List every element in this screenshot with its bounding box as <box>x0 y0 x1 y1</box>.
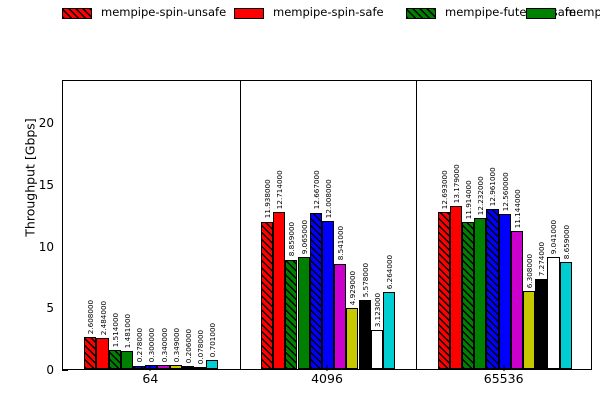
y-tick-label: 15 <box>39 179 54 191</box>
legend-label: mempipe-spin-unsafe <box>101 7 226 19</box>
group-separator <box>416 81 417 369</box>
bars-container: 2.6080002.4840001.5140001.4810000.278000… <box>63 81 591 369</box>
chart-legend: mempipe-spin-unsafemempipe-spin-safememp… <box>62 4 532 78</box>
bar: 2.608000 <box>84 337 96 369</box>
bar: 0.078000 <box>194 367 206 369</box>
bar: 11.938000 <box>261 222 273 369</box>
bar: 8.659000 <box>560 262 572 369</box>
bar: 8.859000 <box>285 260 297 369</box>
bar: 12.232000 <box>474 218 486 369</box>
bar: 0.340000 <box>157 365 169 369</box>
y-axis-ticks: 05101520 <box>0 80 62 370</box>
bar-value-label: 11.938000 <box>264 180 271 219</box>
legend-label: mempipe-futex-safe <box>565 7 600 19</box>
bar: 5.578000 <box>359 300 371 369</box>
legend-swatch-icon <box>406 8 436 19</box>
bar-value-label: 1.481000 <box>124 313 131 347</box>
bar: 1.514000 <box>109 350 121 369</box>
bar-value-label: 5.578000 <box>361 263 368 297</box>
bar-value-label: 0.701000 <box>209 323 216 357</box>
bar: 12.714000 <box>273 212 285 369</box>
bar-value-label: 0.300000 <box>148 328 155 362</box>
bar: 12.560000 <box>499 214 511 369</box>
legend-swatch-icon <box>234 8 264 19</box>
bar-value-label: 9.041000 <box>550 220 557 254</box>
legend-entry: mempipe-futex-safe <box>526 4 600 22</box>
bar: 11.144000 <box>511 231 523 369</box>
bar: 12.008000 <box>322 221 334 369</box>
bar-value-label: 12.560000 <box>501 172 508 211</box>
bar-value-label: 9.065000 <box>300 220 307 254</box>
bar-value-label: 6.264000 <box>386 254 393 288</box>
bar-value-label: 12.667000 <box>313 171 320 210</box>
bar-value-label: 4.929000 <box>349 271 356 305</box>
bar: 6.264000 <box>383 292 395 369</box>
bar-value-label: 11.914000 <box>465 180 472 219</box>
bar: 8.541000 <box>334 264 346 369</box>
legend-label: mempipe-spin-safe <box>273 7 384 19</box>
x-tick-mark <box>503 365 504 371</box>
bar: 11.914000 <box>462 222 474 369</box>
bar-value-label: 8.859000 <box>288 222 295 256</box>
bar: 12.667000 <box>310 213 322 369</box>
bar-value-label: 0.078000 <box>197 330 204 364</box>
y-tick-label: 5 <box>46 302 54 314</box>
legend-entry: mempipe-spin-safe <box>234 4 406 22</box>
x-tick-mark <box>327 365 328 371</box>
y-tick-label: 10 <box>39 241 54 253</box>
bar: 1.481000 <box>121 351 133 369</box>
bar: 7.274000 <box>535 279 547 369</box>
legend-entry: mempipe-spin-unsafe <box>62 4 234 22</box>
y-tick-label: 0 <box>46 364 54 376</box>
bar: 9.065000 <box>298 257 310 369</box>
bar-value-label: 0.349000 <box>173 327 180 361</box>
bar-value-label: 0.206000 <box>185 329 192 363</box>
bar-value-label: 8.541000 <box>337 226 344 260</box>
bar: 12.961000 <box>486 209 498 369</box>
x-tick-mark <box>150 365 151 371</box>
plot-area: 2.6080002.4840001.5140001.4810000.278000… <box>62 80 592 370</box>
bar: 12.693000 <box>438 212 450 369</box>
x-axis-ticks: 64409665536 <box>62 372 592 392</box>
bar-value-label: 12.961000 <box>489 167 496 206</box>
bar-value-label: 0.278000 <box>136 328 143 362</box>
legend-swatch-icon <box>62 8 92 19</box>
bar: 0.300000 <box>145 365 157 369</box>
bar-value-label: 12.008000 <box>325 179 332 218</box>
bar-value-label: 0.340000 <box>160 328 167 362</box>
bar-value-label: 13.179000 <box>453 165 460 204</box>
bar: 2.484000 <box>96 338 108 369</box>
bar-value-label: 12.232000 <box>477 176 484 215</box>
bar: 13.179000 <box>450 206 462 369</box>
bar: 6.308000 <box>523 291 535 369</box>
bar: 0.349000 <box>170 365 182 369</box>
bar-value-label: 12.693000 <box>440 171 447 210</box>
bar: 3.123000 <box>371 330 383 369</box>
bar-value-label: 6.308000 <box>526 254 533 288</box>
bar-value-label: 1.514000 <box>112 313 119 347</box>
bar-value-label: 7.274000 <box>538 242 545 276</box>
bar: 0.278000 <box>133 366 145 369</box>
bar-value-label: 2.484000 <box>99 301 106 335</box>
legend-entry: mempipe-futex-unsafe <box>406 4 526 22</box>
bar-value-label: 2.608000 <box>87 300 94 334</box>
group-separator <box>240 81 241 369</box>
bar: 9.041000 <box>547 257 559 369</box>
y-tick-mark <box>62 370 68 371</box>
bar-value-label: 11.144000 <box>514 190 521 229</box>
x-tick-label: 4096 <box>311 372 343 385</box>
bar: 0.206000 <box>182 366 194 369</box>
bar-value-label: 12.714000 <box>276 170 283 209</box>
bar: 0.701000 <box>206 360 218 369</box>
legend-swatch-icon <box>526 8 556 19</box>
x-tick-label: 64 <box>142 372 158 385</box>
bar-value-label: 3.123000 <box>374 293 381 327</box>
x-tick-label: 65536 <box>484 372 524 385</box>
y-tick-label: 20 <box>39 117 54 129</box>
bar-value-label: 8.659000 <box>562 225 569 259</box>
bar: 4.929000 <box>346 308 358 369</box>
